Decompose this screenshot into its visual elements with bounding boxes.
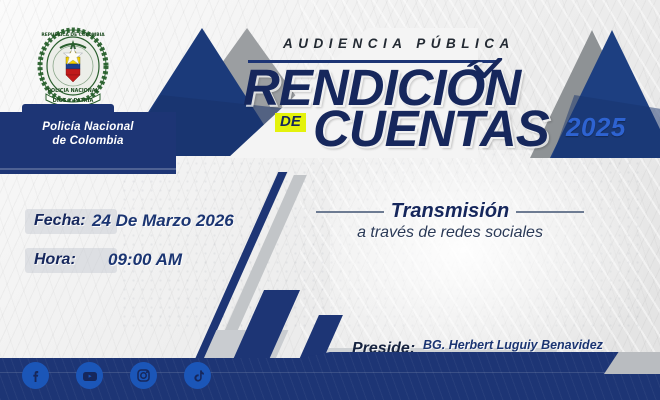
title-line2: CUENTAS (313, 103, 549, 154)
eyebrow-text: AUDIENCIA PÚBLICA (283, 36, 515, 51)
org-name: Policía Nacional de Colombia (0, 120, 176, 148)
broadcast-heading-row: Transmisión (300, 200, 600, 223)
broadcast-rule-right (516, 211, 584, 213)
org-name-line1: Policía Nacional (0, 120, 176, 134)
rendicion-de-cuentas-poster: 2025 REPUBLICA DE COLOMBIA POLICIA NACIO… (0, 0, 660, 400)
social-links (22, 362, 211, 389)
year-label: 2025 (566, 112, 626, 143)
emblem-mid-text: POLICIA NACIONAL (47, 88, 98, 94)
emblem-top-text: REPUBLICA DE COLOMBIA (41, 32, 105, 38)
broadcast-block: Transmisión a través de redes sociales (300, 200, 600, 242)
org-name-line2: de Colombia (0, 134, 176, 148)
facebook-icon[interactable] (22, 362, 49, 389)
tiktok-icon[interactable] (184, 362, 211, 389)
broadcast-heading: Transmisión (391, 200, 510, 223)
broadcast-rule-left (316, 211, 384, 213)
broadcast-subheading: a través de redes sociales (300, 224, 600, 242)
police-emblem: REPUBLICA DE COLOMBIA POLICIA NACIONAL D… (36, 24, 110, 110)
org-band-underline (0, 168, 176, 170)
time-value: 09:00 AM (108, 250, 182, 270)
instagram-icon[interactable] (130, 362, 157, 389)
title-connector: DE (275, 113, 306, 132)
checkmark-icon (473, 58, 503, 80)
youtube-icon[interactable] (76, 362, 103, 389)
date-value: 24 De Marzo 2026 (92, 211, 234, 231)
time-label: Hora: (25, 248, 117, 273)
